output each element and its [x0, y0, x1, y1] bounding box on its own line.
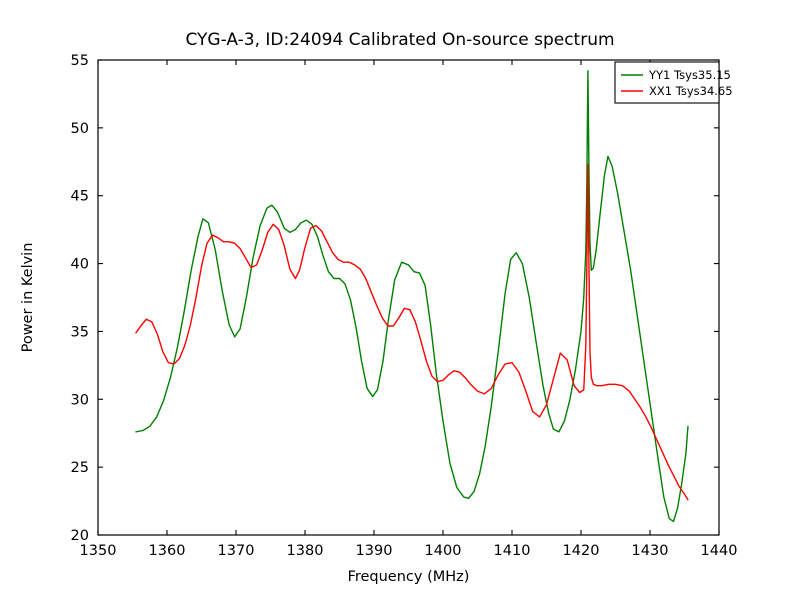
x-tick-label: 1370: [218, 543, 255, 559]
y-axis-label: Power in Kelvin: [20, 243, 36, 353]
y-tick-label: 50: [71, 121, 89, 137]
legend-label-1: YY1 Tsys35.15: [648, 68, 731, 82]
y-tick-label: 45: [71, 189, 89, 205]
y-tick-label: 20: [71, 528, 89, 544]
x-tick-label: 1390: [356, 543, 393, 559]
x-tick-label: 1380: [287, 543, 324, 559]
x-tick-label: 1420: [563, 543, 600, 559]
x-tick-label: 1430: [632, 543, 669, 559]
legend-group: YY1 Tsys35.15XX1 Tsys34.65: [615, 62, 733, 103]
x-tick-label: 1410: [494, 543, 531, 559]
x-tick-label: 1360: [149, 543, 186, 559]
x-tick-label: 1400: [425, 543, 462, 559]
axes-group: 1350136013701380139014001410142014301440…: [20, 53, 737, 585]
legend-label-2: XX1 Tsys34.65: [649, 84, 733, 98]
x-tick-label: 1350: [80, 543, 117, 559]
x-axis-label: Frequency (MHz): [348, 569, 470, 585]
y-tick-label: 55: [71, 53, 89, 69]
y-tick-label: 30: [71, 392, 89, 408]
spectrum-plot[interactable]: 1350136013701380139014001410142014301440…: [0, 0, 800, 600]
series-group: [136, 71, 688, 522]
y-tick-label: 40: [71, 257, 89, 273]
y-tick-label: 25: [71, 460, 89, 476]
series-line-2: [136, 165, 688, 500]
y-tick-label: 35: [71, 324, 89, 340]
plot-frame: [98, 60, 719, 535]
x-tick-label: 1440: [701, 543, 738, 559]
series-line-1: [136, 71, 688, 522]
figure-canvas: CYG-A-3, ID:24094 Calibrated On-source s…: [0, 0, 800, 600]
